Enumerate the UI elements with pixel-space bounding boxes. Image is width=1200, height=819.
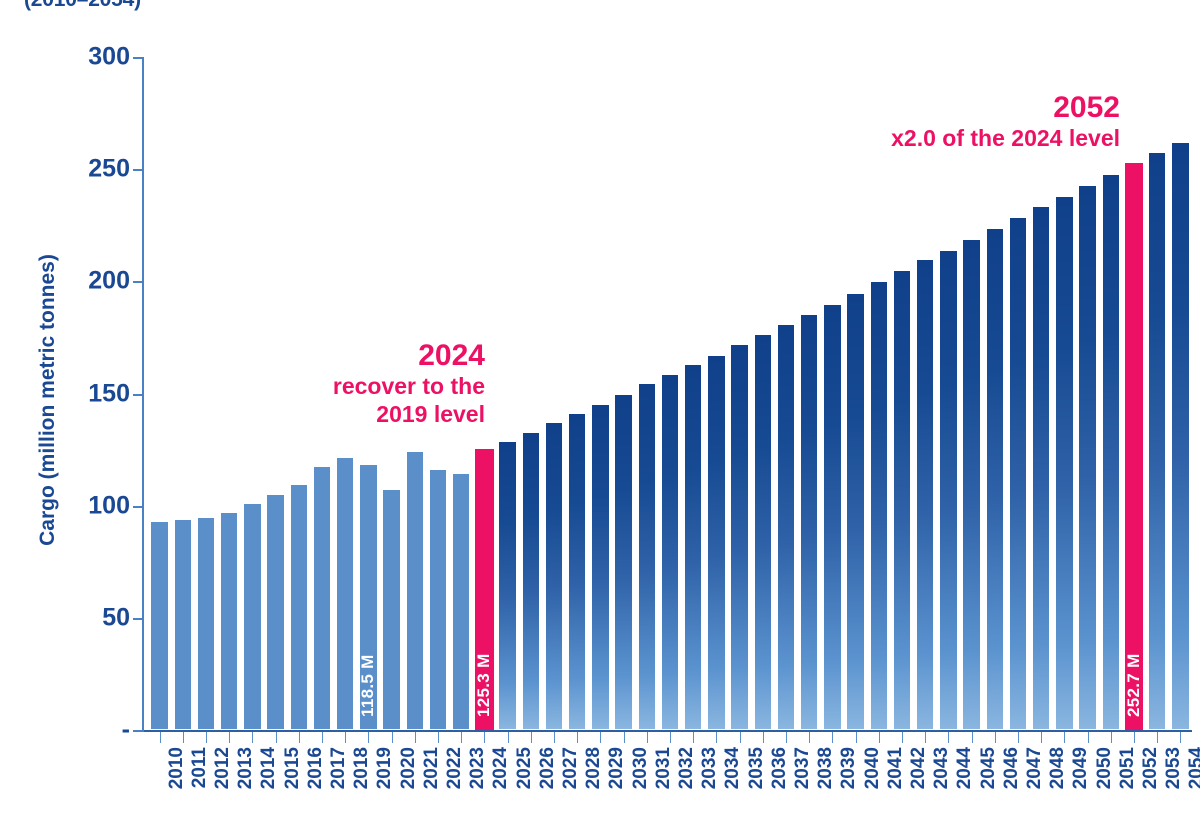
bar-slot-2035 — [730, 57, 749, 730]
bar-2018[interactable] — [336, 457, 355, 730]
x-tick-2017 — [322, 732, 323, 743]
bar-value-label-2019: 118.5 M — [358, 654, 378, 717]
x-tick-2039 — [832, 732, 833, 743]
x-axis-label-2026: 2026 — [538, 747, 557, 819]
bar-2043[interactable] — [916, 259, 935, 730]
x-tick-2025 — [508, 732, 509, 743]
bar-value-label-2024: 125.3 M — [474, 653, 494, 717]
x-axis-label-2039: 2039 — [839, 747, 858, 819]
bar-2028[interactable] — [568, 413, 587, 730]
bar-2050[interactable] — [1078, 185, 1097, 730]
x-tick-2020 — [392, 732, 393, 743]
x-tick-2034 — [716, 732, 717, 743]
x-axis-label-2054: 2054 — [1187, 747, 1200, 819]
bar-2034[interactable] — [707, 355, 726, 730]
x-axis-label-2042: 2042 — [909, 747, 928, 819]
x-tick-2054 — [1180, 732, 1181, 743]
x-tick-2037 — [786, 732, 787, 743]
x-axis-label-2014: 2014 — [259, 747, 278, 819]
y-tick-label--: - — [40, 718, 130, 743]
bar-2037[interactable] — [777, 324, 796, 730]
bar-slot-2028 — [568, 57, 587, 730]
bar-2038[interactable] — [800, 314, 819, 730]
bar-2044[interactable] — [939, 250, 958, 730]
x-tick-2052 — [1134, 732, 1135, 743]
x-axis-label-2010: 2010 — [167, 747, 186, 819]
x-axis-label-2019: 2019 — [375, 747, 394, 819]
y-tick-250 — [133, 169, 144, 171]
x-axis-label-2036: 2036 — [770, 747, 789, 819]
bar-2012[interactable] — [197, 517, 216, 730]
bar-slot-2039 — [823, 57, 842, 730]
x-axis-label-2020: 2020 — [399, 747, 418, 819]
bar-slot-2052: 252.7 M — [1125, 57, 1144, 730]
bar-2042[interactable] — [893, 270, 912, 730]
bar-slot-2013 — [220, 57, 239, 730]
x-axis-label-2040: 2040 — [863, 747, 882, 819]
y-tick-200 — [133, 281, 144, 283]
bar-2036[interactable] — [754, 334, 773, 730]
bar-slot-2025 — [498, 57, 517, 730]
x-axis-label-2031: 2031 — [654, 747, 673, 819]
x-tick-2019 — [368, 732, 369, 743]
bar-slot-2010 — [150, 57, 169, 730]
x-axis-label-2048: 2048 — [1048, 747, 1067, 819]
x-tick-2026 — [531, 732, 532, 743]
x-tick-2046 — [995, 732, 996, 743]
bar-slot-2042 — [893, 57, 912, 730]
bar-2054[interactable] — [1171, 142, 1190, 730]
y-tick-label-50: 50 — [40, 605, 130, 630]
x-axis-label-2051: 2051 — [1118, 747, 1137, 819]
annotation-2024-line2: 2019 level — [300, 401, 485, 428]
bar-2053[interactable] — [1148, 152, 1167, 730]
x-axis-label-2049: 2049 — [1071, 747, 1090, 819]
bar-2010[interactable] — [150, 521, 169, 730]
annotation-2052-year: 2052 — [830, 90, 1120, 125]
bar-slot-2036 — [754, 57, 773, 730]
x-axis-label-2043: 2043 — [932, 747, 951, 819]
x-axis-label-2023: 2023 — [468, 747, 487, 819]
x-tick-2047 — [1018, 732, 1019, 743]
bar-2031[interactable] — [638, 383, 657, 730]
x-tick-2027 — [554, 732, 555, 743]
x-tick-2018 — [345, 732, 346, 743]
chart-title: (2010–2054) — [24, 0, 141, 12]
bar-slot-2041 — [870, 57, 889, 730]
x-axis-ticks — [148, 732, 1192, 744]
x-tick-2010 — [160, 732, 161, 743]
bar-2049[interactable] — [1055, 196, 1074, 730]
bar-slot-2045 — [962, 57, 981, 730]
x-axis-label-2015: 2015 — [283, 747, 302, 819]
bar-slot-2044 — [939, 57, 958, 730]
bar-2017[interactable] — [313, 466, 332, 730]
bar-slot-2011 — [174, 57, 193, 730]
x-tick-2015 — [276, 732, 277, 743]
bar-slot-2040 — [846, 57, 865, 730]
bar-2030[interactable] — [614, 394, 633, 731]
bar-2027[interactable] — [545, 422, 564, 730]
bar-slot-2034 — [707, 57, 726, 730]
bar-slot-2027 — [545, 57, 564, 730]
x-tick-2036 — [763, 732, 764, 743]
bar-2022[interactable] — [429, 469, 448, 730]
bar-slot-2026 — [522, 57, 541, 730]
bar-2040[interactable] — [846, 293, 865, 730]
x-axis-label-2029: 2029 — [607, 747, 626, 819]
bar-slot-2031 — [638, 57, 657, 730]
x-axis-label-2027: 2027 — [561, 747, 580, 819]
x-axis-label-2016: 2016 — [306, 747, 325, 819]
x-tick-2029 — [600, 732, 601, 743]
x-axis-label-2032: 2032 — [677, 747, 696, 819]
bar-2026[interactable] — [522, 432, 541, 730]
x-tick-2022 — [438, 732, 439, 743]
bar-slot-2014 — [243, 57, 262, 730]
bar-2045[interactable] — [962, 239, 981, 730]
x-tick-2016 — [299, 732, 300, 743]
bar-2025[interactable] — [498, 441, 517, 730]
x-tick-2021 — [415, 732, 416, 743]
annotation-2024: 2024 recover to the 2019 level — [300, 338, 485, 428]
y-tick-label-250: 250 — [40, 157, 130, 182]
bar-2015[interactable] — [266, 494, 285, 730]
y-tick-label-300: 300 — [40, 45, 130, 70]
bar-2011[interactable] — [174, 519, 193, 730]
bar-2032[interactable] — [661, 374, 680, 730]
bar-2014[interactable] — [243, 503, 262, 730]
bar-2029[interactable] — [591, 404, 610, 730]
bar-slot-2047 — [1009, 57, 1028, 730]
x-axis-label-2047: 2047 — [1025, 747, 1044, 819]
bar-slot-2053 — [1148, 57, 1167, 730]
x-axis-label-2038: 2038 — [816, 747, 835, 819]
bar-slot-2048 — [1032, 57, 1051, 730]
x-tick-2023 — [461, 732, 462, 743]
x-axis-label-2053: 2053 — [1164, 747, 1183, 819]
x-axis-label-2013: 2013 — [236, 747, 255, 819]
x-tick-2032 — [670, 732, 671, 743]
bar-slot-2032 — [661, 57, 680, 730]
x-axis-label-2045: 2045 — [979, 747, 998, 819]
x-tick-2045 — [972, 732, 973, 743]
bar-2024[interactable]: 125.3 M — [475, 449, 494, 730]
y-tick-300 — [133, 57, 144, 59]
x-tick-2028 — [577, 732, 578, 743]
x-tick-2033 — [693, 732, 694, 743]
bar-slot-2038 — [800, 57, 819, 730]
y-tick-50 — [133, 618, 144, 620]
x-axis-label-2044: 2044 — [955, 747, 974, 819]
bar-2041[interactable] — [870, 281, 889, 730]
x-axis-label-2041: 2041 — [886, 747, 905, 819]
x-tick-2042 — [902, 732, 903, 743]
x-tick-2035 — [740, 732, 741, 743]
bar-slot-2054 — [1171, 57, 1190, 730]
x-tick-2048 — [1041, 732, 1042, 743]
x-axis-label-2017: 2017 — [329, 747, 348, 819]
x-tick-2031 — [647, 732, 648, 743]
bar-2052[interactable]: 252.7 M — [1125, 163, 1144, 730]
y-tick-100 — [133, 506, 144, 508]
x-tick-2011 — [183, 732, 184, 743]
x-axis-label-2046: 2046 — [1002, 747, 1021, 819]
x-axis-label-2018: 2018 — [352, 747, 371, 819]
y-tick-label-200: 200 — [40, 269, 130, 294]
bar-2023[interactable] — [452, 473, 471, 730]
bar-slot-2046 — [986, 57, 1005, 730]
bar-2051[interactable] — [1102, 174, 1121, 730]
bar-slot-2029 — [591, 57, 610, 730]
x-axis-label-2011: 2011 — [190, 747, 209, 819]
bar-value-label-2052: 252.7 M — [1124, 653, 1144, 717]
x-axis-label-2024: 2024 — [491, 747, 510, 819]
x-tick-2041 — [879, 732, 880, 743]
x-axis-label-2030: 2030 — [631, 747, 650, 819]
bar-2021[interactable] — [406, 451, 425, 730]
bar-slot-2043 — [916, 57, 935, 730]
x-tick-2044 — [948, 732, 949, 743]
x-axis-label-2012: 2012 — [213, 747, 232, 819]
bar-slot-2051 — [1102, 57, 1121, 730]
bar-slot-2050 — [1078, 57, 1097, 730]
bar-2033[interactable] — [684, 364, 703, 730]
x-axis-label-2028: 2028 — [584, 747, 603, 819]
x-tick-2040 — [856, 732, 857, 743]
x-axis-labels: 2010201120122013201420152016201720182019… — [148, 747, 1192, 819]
x-axis-label-2021: 2021 — [422, 747, 441, 819]
y-tick-150 — [133, 394, 144, 396]
bar-2035[interactable] — [730, 344, 749, 730]
x-tick-2013 — [229, 732, 230, 743]
bar-2039[interactable] — [823, 304, 842, 730]
annotation-2024-year: 2024 — [300, 338, 485, 373]
bar-2048[interactable] — [1032, 206, 1051, 730]
bar-slot-2033 — [684, 57, 703, 730]
x-axis-label-2022: 2022 — [445, 747, 464, 819]
bar-slot-2012 — [197, 57, 216, 730]
x-tick-2053 — [1157, 732, 1158, 743]
x-tick-2038 — [809, 732, 810, 743]
x-tick-2012 — [206, 732, 207, 743]
y-tick-- — [133, 730, 144, 732]
bar-slot-2049 — [1055, 57, 1074, 730]
x-axis-label-2025: 2025 — [515, 747, 534, 819]
bar-2046[interactable] — [986, 228, 1005, 731]
x-axis-label-2033: 2033 — [700, 747, 719, 819]
y-tick-label-100: 100 — [40, 493, 130, 518]
bar-slot-2037 — [777, 57, 796, 730]
bar-2013[interactable] — [220, 512, 239, 730]
bar-2047[interactable] — [1009, 217, 1028, 730]
bar-2020[interactable] — [382, 489, 401, 730]
x-tick-2030 — [624, 732, 625, 743]
annotation-2024-line1: recover to the — [300, 373, 485, 400]
bar-slot-2015 — [266, 57, 285, 730]
x-axis-label-2037: 2037 — [793, 747, 812, 819]
bar-2016[interactable] — [290, 484, 309, 730]
x-tick-2049 — [1064, 732, 1065, 743]
x-tick-2024 — [484, 732, 485, 743]
x-axis-label-2035: 2035 — [747, 747, 766, 819]
x-tick-2050 — [1088, 732, 1089, 743]
x-tick-2014 — [252, 732, 253, 743]
x-axis-label-2034: 2034 — [723, 747, 742, 819]
annotation-2052: 2052 x2.0 of the 2024 level — [830, 90, 1120, 153]
x-axis-label-2050: 2050 — [1095, 747, 1114, 819]
annotation-2052-line1: x2.0 of the 2024 level — [830, 125, 1120, 152]
cargo-forecast-chart: (2010–2054) Cargo (million metric tonnes… — [0, 0, 1200, 800]
bar-slot-2030 — [614, 57, 633, 730]
x-axis-label-2052: 2052 — [1141, 747, 1160, 819]
x-tick-2043 — [925, 732, 926, 743]
bar-2019[interactable]: 118.5 M — [359, 464, 378, 730]
x-tick-2051 — [1111, 732, 1112, 743]
y-tick-label-150: 150 — [40, 381, 130, 406]
